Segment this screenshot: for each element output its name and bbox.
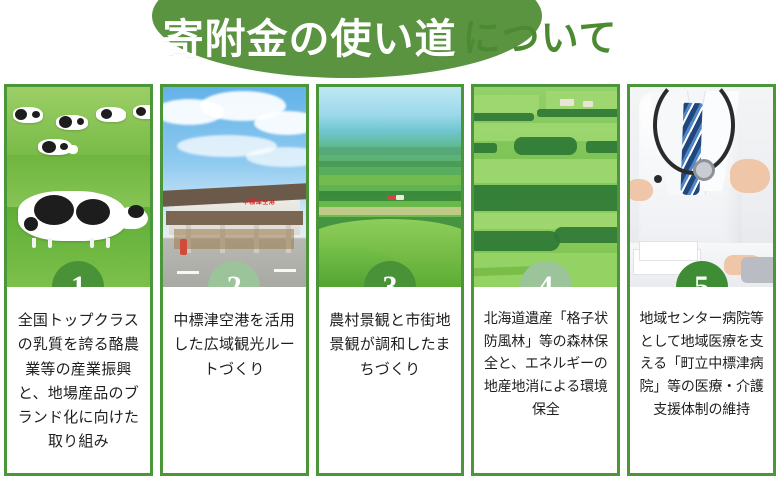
usage-card-5[interactable]: 5 地域センター病院等として地域医療を支える「町立中標津病院」等の医療・介護支援… [627,84,776,476]
usage-card-2[interactable]: 中標津空港 2 中標津空港を活用した広域観光ルートづくり [160,84,309,476]
usage-cards-row: 1 全国トップクラスの乳質を誇る酪農業等の産業振興と、地場産品のブランド化に向け… [0,84,780,476]
dairy-cows-pasture-photo: 1 [7,87,150,287]
usage-card-3[interactable]: 3 農村景観と市街地景観が調和したまちづくり [316,84,465,476]
rural-landscape-panorama-photo: 3 [319,87,462,287]
card-description-1: 全国トップクラスの乳質を誇る酪農業等の産業振興と、地場産品のブランド化に向けた取… [13,309,144,467]
usage-card-1[interactable]: 1 全国トップクラスの乳質を誇る酪農業等の産業振興と、地場産品のブランド化に向け… [4,84,153,476]
page-title: 寄附金の使い道 について [0,0,780,78]
page-title-suffix: について [463,20,618,58]
gridded-windbreak-forest-aerial-photo: 4 [474,87,617,287]
doctor-patient-consultation-photo: 5 [630,87,773,287]
page-header: 寄附金の使い道 について [0,0,780,78]
page-title-main: 寄附金の使い道 [163,19,457,60]
card-description-2: 中標津空港を活用した広域観光ルートづくり [169,309,300,467]
card-description-4: 北海道遺産「格子状防風林」等の森林保全と、エネルギーの地産地消による環境保全 [480,309,611,467]
nakashibetsu-airport-terminal-photo: 中標津空港 2 [163,87,306,287]
card-description-3: 農村景観と市街地景観が調和したまちづくり [325,309,456,467]
card-description-5: 地域センター病院等として地域医療を支える「町立中標津病院」等の医療・介護支援体制… [636,309,767,467]
usage-card-4[interactable]: 4 北海道遺産「格子状防風林」等の森林保全と、エネルギーの地産地消による環境保全 [471,84,620,476]
